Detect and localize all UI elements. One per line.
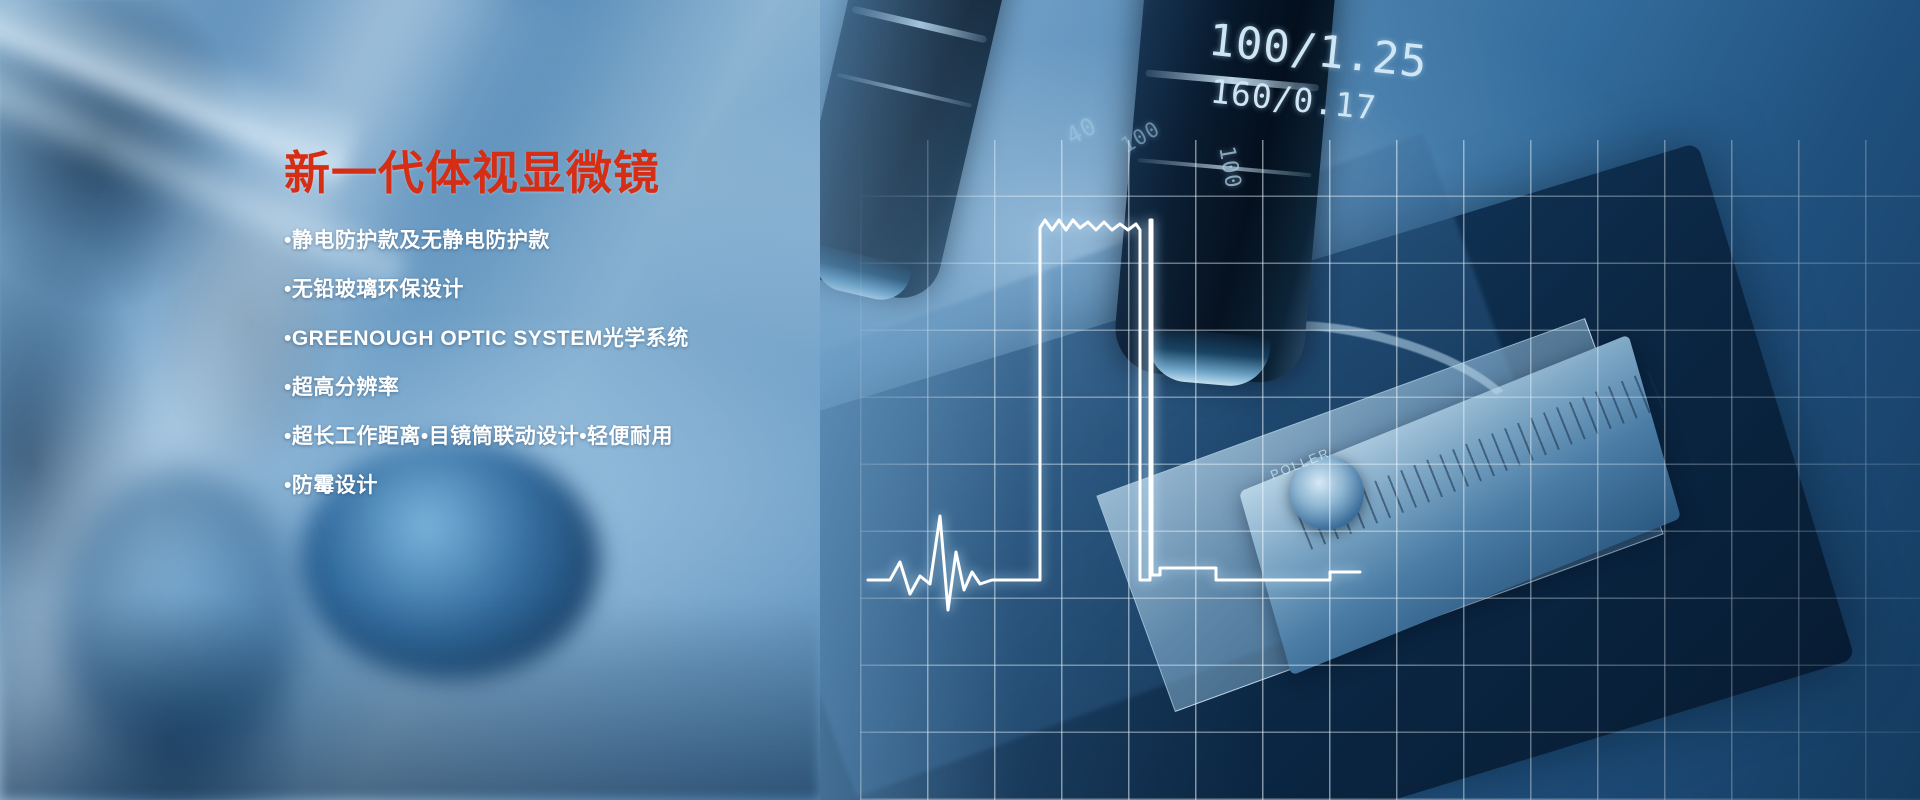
background-bottom-shadow [0, 600, 820, 800]
feature-list: •静电防护款及无静电防护款 •无铅玻璃环保设计 •GREENOUGH OPTIC… [284, 230, 904, 496]
microscope-photo: POLLER 100/1.25 160/0.17 40 100 100 [820, 0, 1920, 800]
list-item: •无铅玻璃环保设计 [284, 279, 904, 300]
product-banner: POLLER 100/1.25 160/0.17 40 100 100 新一代体… [0, 0, 1920, 800]
list-item: •GREENOUGH OPTIC SYSTEM光学系统 [284, 328, 904, 349]
list-item: •超长工作距离•目镜筒联动设计•轻便耐用 [284, 426, 904, 447]
banner-text-block: 新一代体视显微镜 •静电防护款及无静电防护款 •无铅玻璃环保设计 •GREENO… [284, 150, 904, 496]
list-item: •静电防护款及无静电防护款 [284, 230, 904, 251]
list-item: •防霉设计 [284, 475, 904, 496]
list-item: •超高分辨率 [284, 377, 904, 398]
page-title: 新一代体视显微镜 [284, 150, 904, 196]
photo-edge-blend [820, 0, 1920, 800]
